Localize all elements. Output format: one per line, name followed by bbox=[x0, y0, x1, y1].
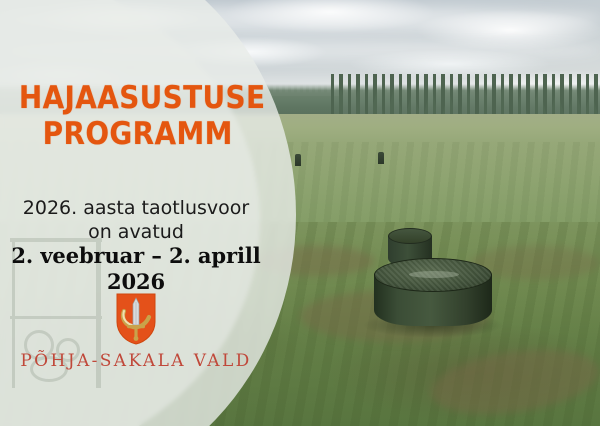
coat-of-arms-icon bbox=[115, 292, 157, 346]
municipality-logo: PÕHJA-SAKALA VALD bbox=[0, 292, 272, 371]
page-title: HAJAASUSTUSE PROGRAMM bbox=[14, 80, 257, 152]
headline-line-2: PROGRAMM bbox=[14, 116, 257, 152]
large-tank-cover bbox=[374, 258, 492, 330]
text-content: HAJAASUSTUSE PROGRAMM 2026. aasta taotlu… bbox=[0, 0, 296, 426]
poster-canvas: HAJAASUSTUSE PROGRAMM 2026. aasta taotlu… bbox=[0, 0, 600, 426]
application-period: 2. veebruar – 2. aprill 2026 bbox=[0, 243, 272, 295]
headline-line-1: HAJAASUSTUSE bbox=[14, 80, 257, 116]
field-pipe-marker bbox=[378, 152, 384, 164]
subtitle: 2026. aasta taotlusvoor on avatud bbox=[0, 196, 272, 244]
subtitle-line-2: on avatud bbox=[0, 220, 272, 244]
municipality-name: PÕHJA-SAKALA VALD bbox=[20, 351, 251, 371]
subtitle-line-1: 2026. aasta taotlusvoor bbox=[0, 196, 272, 220]
